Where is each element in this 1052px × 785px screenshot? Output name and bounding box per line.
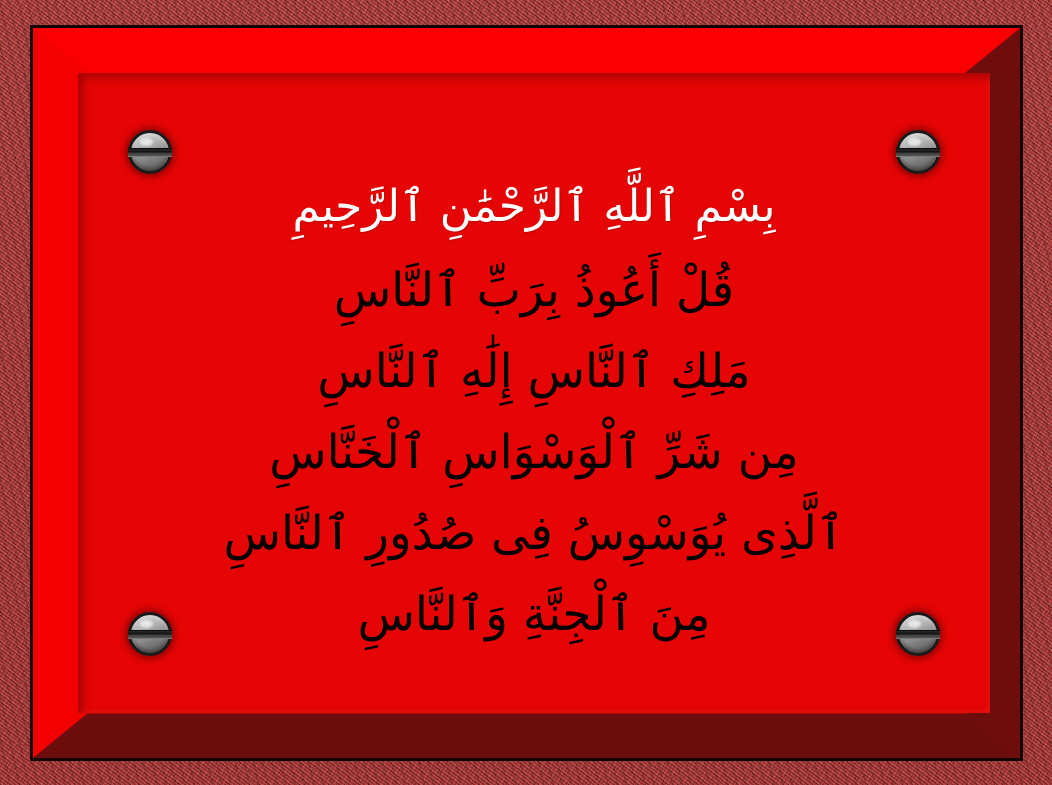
plaque-screenshot: بِسْمِ ٱللَّهِ ٱلرَّحْمَٰنِ ٱلرَّحِيمِ ق… [0,0,1052,785]
ayah-line-4: ٱلَّذِى يُوَسْوِسُ فِى صُدُورِ ٱلنَّاسِ [148,510,920,557]
ayah-line-2: مَلِكِ ٱلنَّاسِ إِلَٰهِ ٱلنَّاسِ [148,348,920,395]
ayah-line-5: مِنَ ٱلْجِنَّةِ وَٱلنَّاسِ [148,591,920,638]
ayah-line-3: مِن شَرِّ ٱلْوَسْوَاسِ ٱلْخَنَّاسِ [148,429,920,476]
ayah-line-1: قُلْ أَعُوذُ بِرَبِّ ٱلنَّاسِ [148,267,920,314]
basmala-line: بِسْمِ ٱللَّهِ ٱلرَّحْمَٰنِ ٱلرَّحِيمِ [148,185,920,229]
screw-top-right-icon [896,130,940,174]
inner-panel: بِسْمِ ٱللَّهِ ٱلرَّحْمَٰنِ ٱلرَّحِيمِ ق… [78,73,990,713]
screw-top-left-icon [128,130,172,174]
beveled-frame: بِسْمِ ٱللَّهِ ٱلرَّحْمَٰنِ ٱلرَّحِيمِ ق… [30,25,1023,761]
scripture-text-block: بِسْمِ ٱللَّهِ ٱلرَّحْمَٰنِ ٱلرَّحِيمِ ق… [148,185,920,638]
